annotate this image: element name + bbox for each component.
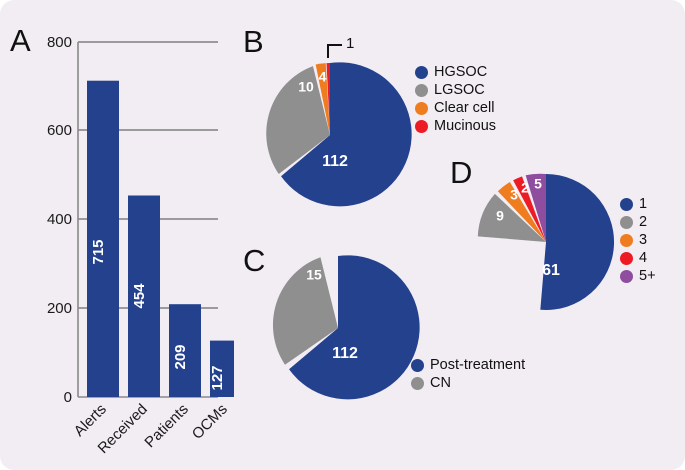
legend-label-post-treatment: Post-treatment <box>430 358 525 373</box>
bar-value-patients: 209 <box>172 344 189 369</box>
legend-label-cn: CN <box>430 376 451 391</box>
legend-swatch-3-icon <box>620 234 633 247</box>
panel-c-pie: 112 15 <box>258 248 423 413</box>
bar-value-ocms: 127 <box>209 365 226 390</box>
pie-d-slice-1[interactable] <box>540 174 614 310</box>
legend-item-post-treatment[interactable]: Post-treatment <box>411 357 525 374</box>
legend-label-lgsoc: LGSOC <box>434 83 485 98</box>
panel-a-bar-chart: A 800 600 400 200 0 <box>0 0 235 470</box>
cat-label-patients: Patients <box>141 401 191 451</box>
legend-swatch-4-icon <box>620 252 633 265</box>
pie-b-label-10: 10 <box>298 79 314 95</box>
legend-item-2[interactable]: 2 <box>620 214 656 231</box>
y-tick-200: 200 <box>47 300 72 317</box>
legend-item-clear-cell[interactable]: Clear cell <box>415 100 496 117</box>
pie-c-label-112: 112 <box>332 345 358 362</box>
legend-swatch-5plus-icon <box>620 270 633 283</box>
cat-label-alerts: Alerts <box>71 401 110 440</box>
panel-a-svg: 800 600 400 200 0 715 454 209 127 <box>0 0 235 470</box>
legend-label-1: 1 <box>639 197 647 212</box>
legend-item-lgsoc[interactable]: LGSOC <box>415 82 496 99</box>
legend-item-hgsoc[interactable]: HGSOC <box>415 64 496 81</box>
x-category-labels: Alerts Received Patients OCMs <box>71 401 231 457</box>
legend-item-4[interactable]: 4 <box>620 250 656 267</box>
legend-swatch-hgsoc-icon <box>415 66 428 79</box>
y-tick-0: 0 <box>64 389 72 406</box>
panel-d-legend: 1 2 3 4 5+ <box>620 196 656 285</box>
y-tick-600: 600 <box>47 122 72 139</box>
pie-c-label-15: 15 <box>306 267 322 283</box>
pie-d-label-2: 2 <box>521 180 529 196</box>
panel-d-pie: 61 9 3 2 5 <box>468 162 628 322</box>
y-tick-labels: 800 600 400 200 0 <box>47 34 72 406</box>
legend-swatch-mucinous-icon <box>415 120 428 133</box>
legend-label-2: 2 <box>639 215 647 230</box>
pie-b-callout-leader <box>328 45 342 58</box>
panel-b-legend: HGSOC LGSOC Clear cell Mucinous <box>415 64 496 135</box>
legend-swatch-cn-icon <box>411 377 424 390</box>
legend-item-5plus[interactable]: 5+ <box>620 268 656 285</box>
legend-item-cn[interactable]: CN <box>411 375 525 392</box>
legend-swatch-1-icon <box>620 198 633 211</box>
cat-label-ocms: OCMs <box>189 401 231 443</box>
panel-c-legend: Post-treatment CN <box>411 357 525 392</box>
pie-d-label-3: 3 <box>510 187 518 203</box>
legend-label-hgsoc: HGSOC <box>434 65 487 80</box>
legend-swatch-post-treatment-icon <box>411 359 424 372</box>
legend-label-4: 4 <box>639 251 647 266</box>
legend-label-3: 3 <box>639 233 647 248</box>
pie-b-label-112: 112 <box>322 153 348 170</box>
bar-alerts[interactable] <box>87 81 119 397</box>
pie-d-label-9: 9 <box>496 208 504 224</box>
legend-item-3[interactable]: 3 <box>620 232 656 249</box>
y-tick-400: 400 <box>47 211 72 228</box>
bar-value-received: 454 <box>131 283 148 309</box>
legend-label-mucinous: Mucinous <box>434 119 496 134</box>
legend-label-5plus: 5+ <box>639 269 656 284</box>
pie-d-label-61: 61 <box>542 262 560 279</box>
legend-item-1[interactable]: 1 <box>620 196 656 213</box>
bars <box>87 81 234 397</box>
legend-swatch-lgsoc-icon <box>415 84 428 97</box>
legend-swatch-2-icon <box>620 216 633 229</box>
legend-label-clear-cell: Clear cell <box>434 101 494 116</box>
legend-swatch-clear-cell-icon <box>415 102 428 115</box>
pie-b-label-4: 4 <box>319 69 327 85</box>
panel-b-pie: 112 10 4 1 <box>245 30 425 220</box>
legend-item-mucinous[interactable]: Mucinous <box>415 118 496 135</box>
pie-b-callout-label: 1 <box>346 35 354 52</box>
bar-value-alerts: 715 <box>90 239 107 264</box>
figure-canvas: A 800 600 400 200 0 <box>0 0 685 470</box>
y-tick-800: 800 <box>47 34 72 51</box>
pie-d-label-5plus: 5 <box>534 176 542 192</box>
